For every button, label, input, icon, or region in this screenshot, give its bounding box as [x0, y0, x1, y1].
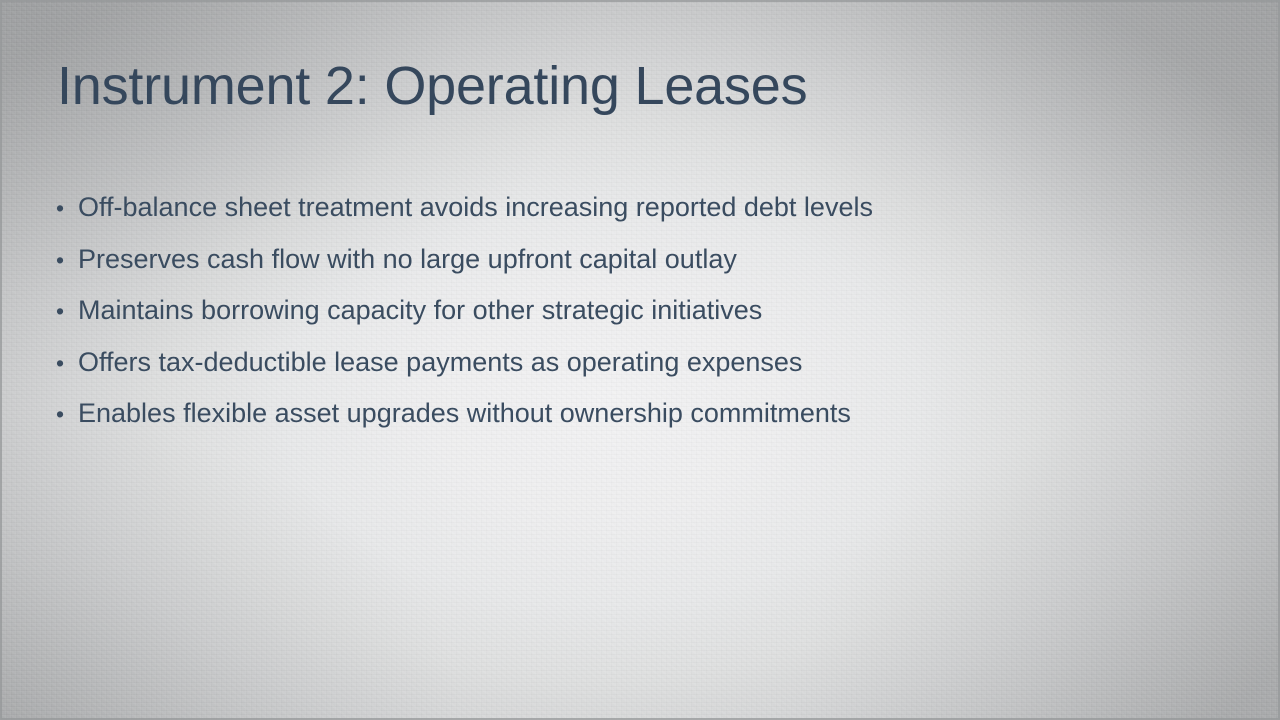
list-item-label: Off-balance sheet treatment avoids incre…	[78, 186, 873, 228]
bullet-dot-icon: •	[56, 239, 78, 281]
bullet-dot-icon: •	[56, 290, 78, 332]
list-item: • Offers tax-deductible lease payments a…	[56, 341, 1176, 393]
slide-content: Instrument 2: Operating Leases • Off-bal…	[0, 0, 1280, 720]
bullet-dot-icon: •	[56, 393, 78, 435]
presentation-slide: Instrument 2: Operating Leases • Off-bal…	[0, 0, 1280, 720]
list-item: • Enables flexible asset upgrades withou…	[56, 392, 1176, 444]
list-item: • Preserves cash flow with no large upfr…	[56, 238, 1176, 290]
bullet-dot-icon: •	[56, 342, 78, 384]
list-item-label: Enables flexible asset upgrades without …	[78, 392, 851, 434]
bullet-dot-icon: •	[56, 187, 78, 229]
list-item-label: Preserves cash flow with no large upfron…	[78, 238, 737, 280]
list-item: • Off-balance sheet treatment avoids inc…	[56, 186, 1176, 238]
bullet-list: • Off-balance sheet treatment avoids inc…	[56, 186, 1176, 444]
list-item-label: Maintains borrowing capacity for other s…	[78, 289, 762, 331]
list-item: • Maintains borrowing capacity for other…	[56, 289, 1176, 341]
list-item-label: Offers tax-deductible lease payments as …	[78, 341, 802, 383]
slide-title: Instrument 2: Operating Leases	[57, 55, 807, 119]
